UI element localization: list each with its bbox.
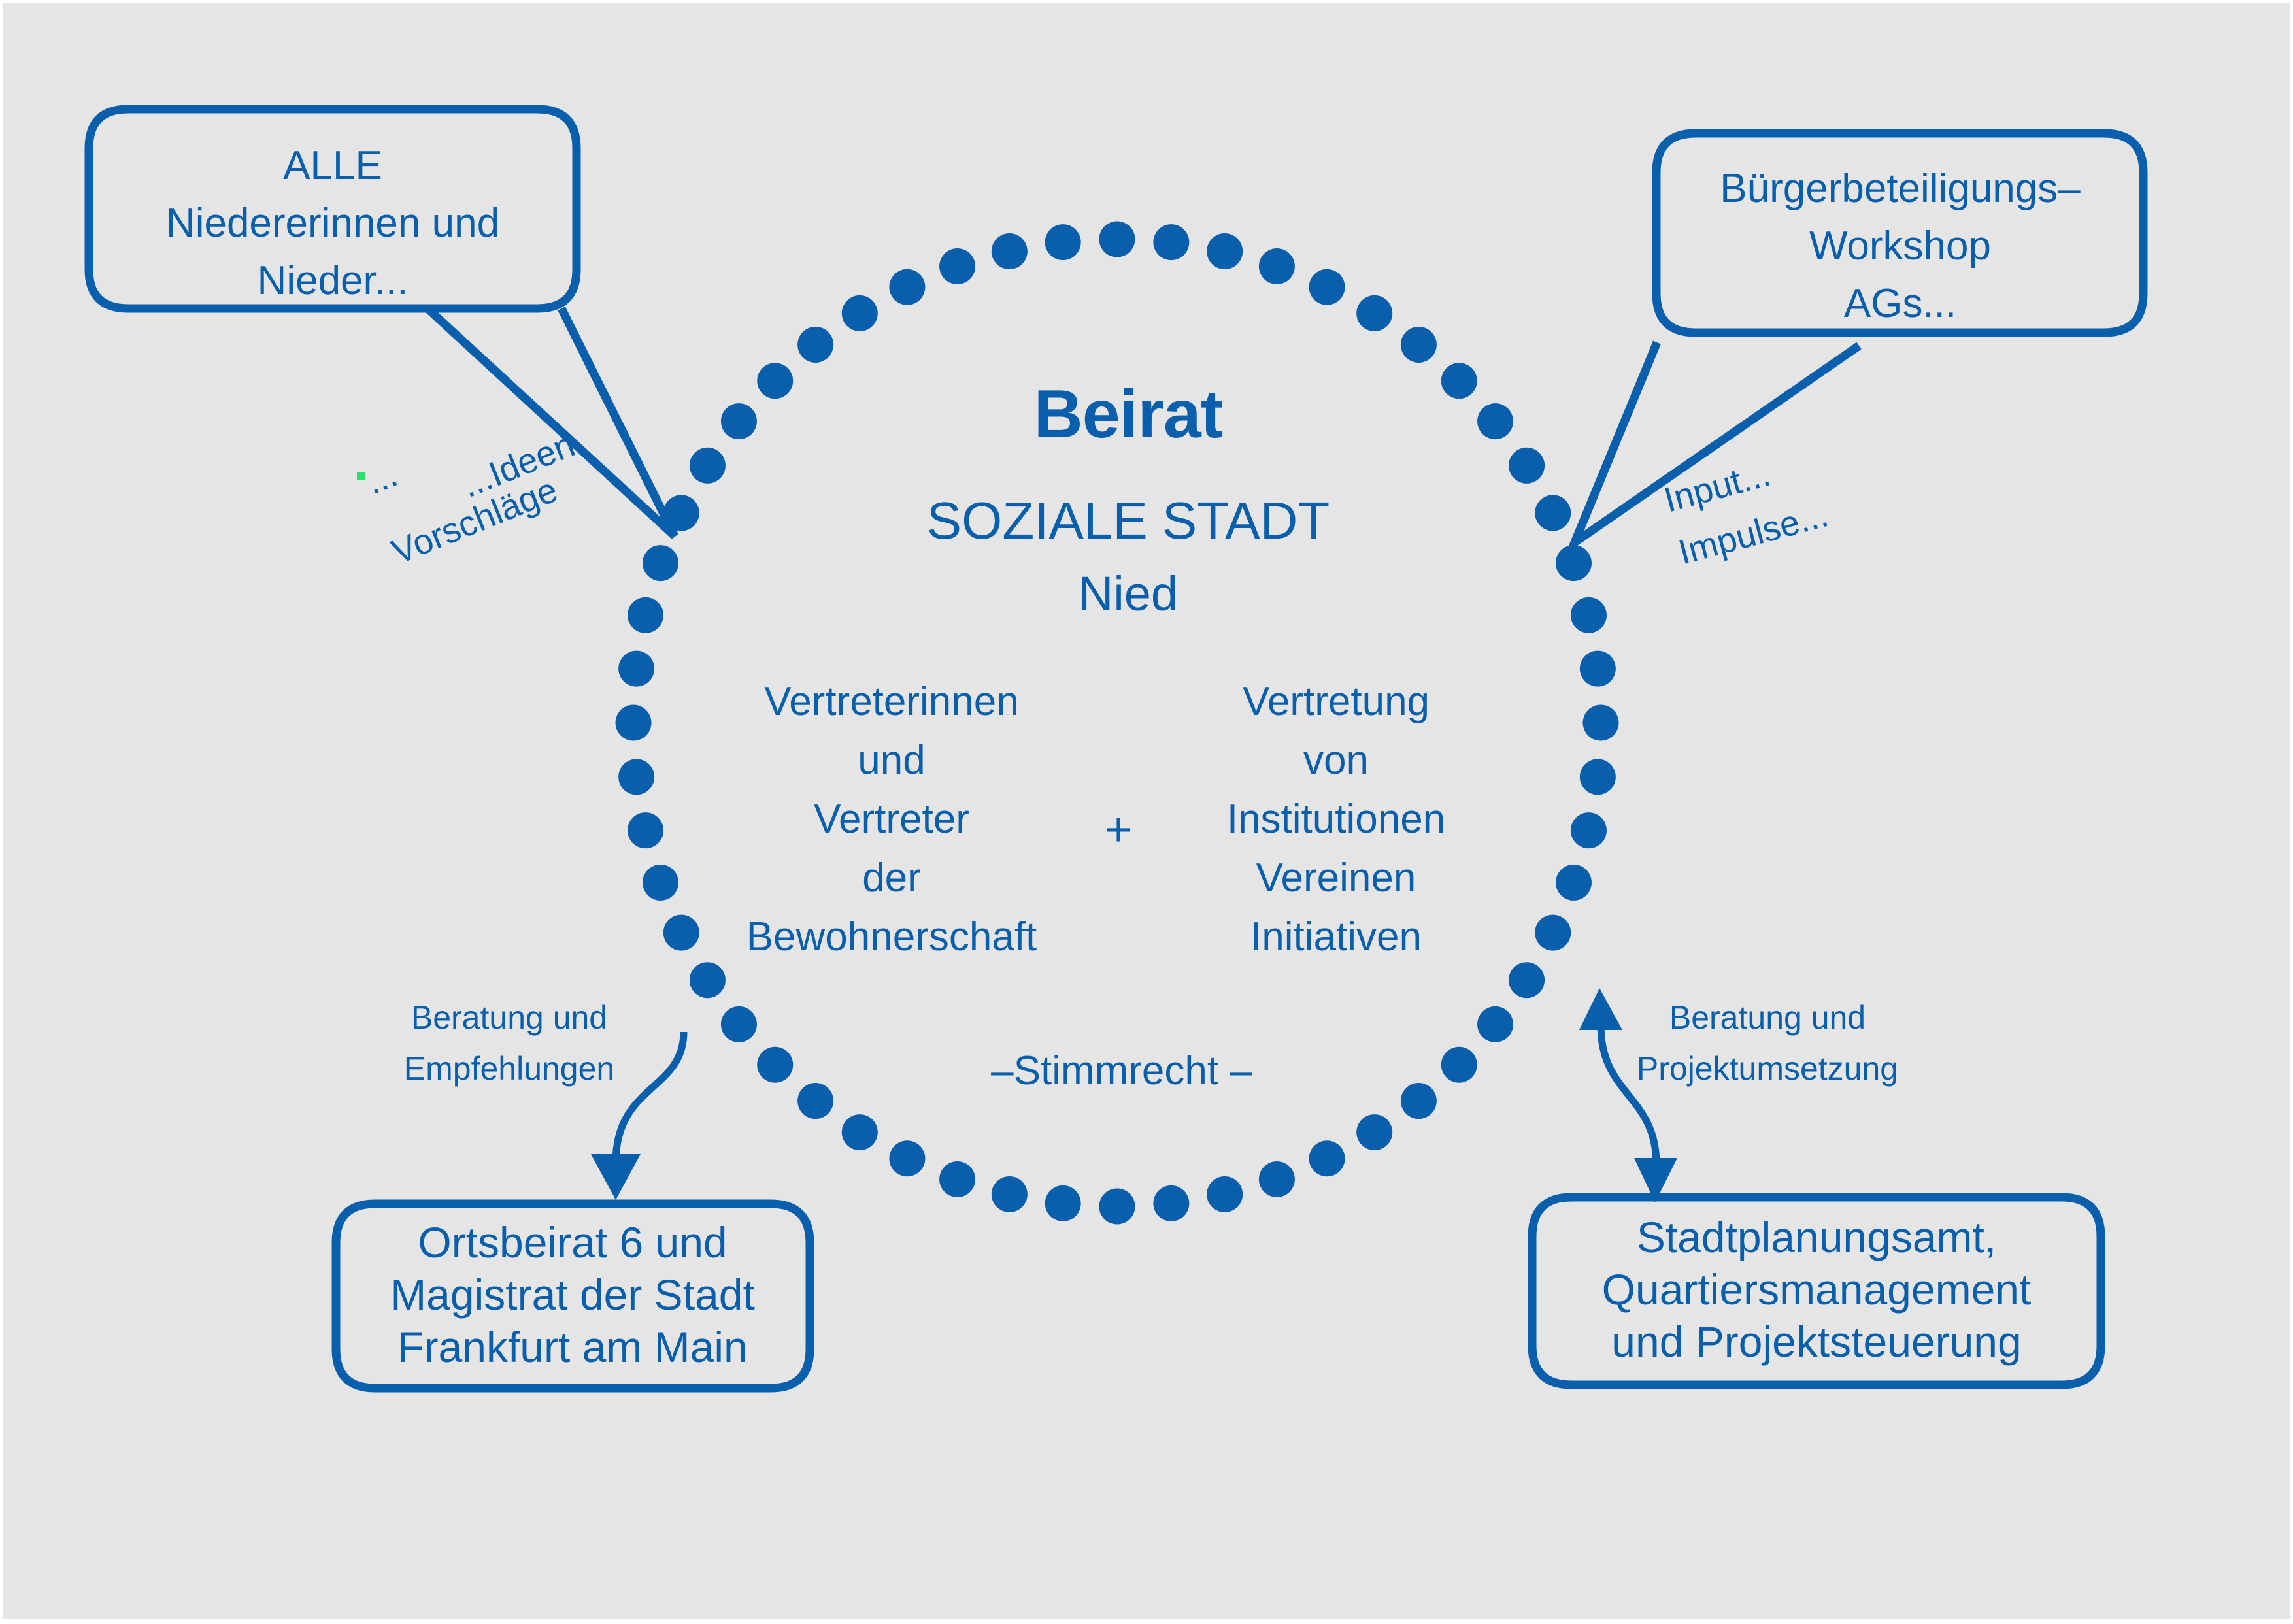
center-content: Beirat SOZIALE STADT Nied Vertreterinnen…	[746, 376, 1445, 1093]
ring-dot	[1556, 545, 1592, 581]
ring-dot	[643, 865, 678, 901]
ring-dot	[721, 403, 757, 439]
ring-dot	[628, 812, 663, 848]
ring-dot	[1401, 327, 1437, 363]
ring-dot	[690, 448, 726, 484]
bubble-top-left-line-1: ALLE	[283, 143, 382, 188]
ring-dot	[1580, 651, 1616, 687]
ring-dot	[1099, 1189, 1135, 1225]
center-left-column-line-2: und	[858, 738, 925, 783]
ring-dot	[1045, 1185, 1081, 1221]
bubble-top-left-line-3: Nieder...	[258, 258, 409, 303]
ring-dot	[1259, 1161, 1295, 1197]
ring-dot	[1153, 1185, 1189, 1221]
ring-dot	[1477, 1006, 1513, 1042]
ring-dot	[628, 597, 663, 633]
diagram-canvas: ALLE Niedererinnen und Nieder... Bürgerb…	[0, 0, 2293, 1621]
center-footer-stimmrecht: –Stimmrecht –	[991, 1048, 1252, 1093]
ring-dot	[1099, 222, 1135, 257]
ring-dot	[1309, 269, 1345, 305]
ring-dot	[1535, 915, 1571, 951]
arrow-right-out-curve	[1601, 1025, 1656, 1165]
ring-dot	[842, 1114, 878, 1150]
center-right-column-line-4: Vereinen	[1256, 855, 1416, 901]
ring-dot	[1259, 248, 1295, 284]
center-subtitle-line-1: SOZIALE STADT	[927, 491, 1330, 550]
ring-dot	[992, 1176, 1028, 1212]
entity-box-bottom-left-line-2: Magistrat der Stadt	[390, 1270, 755, 1319]
ring-dot	[1571, 597, 1607, 633]
ring-dot	[721, 1006, 757, 1042]
ring-dot	[1441, 363, 1477, 399]
ring-dot	[1401, 1083, 1437, 1119]
ring-dot	[1356, 295, 1392, 331]
center-plus-operator: +	[1105, 804, 1132, 856]
flow-label-right-out-line-1: Beratung und	[1669, 999, 1866, 1036]
ring-dot	[842, 295, 878, 331]
entity-box-bottom-left-line-3: Frankfurt am Main	[397, 1323, 747, 1371]
center-subtitle-line-2: Nied	[1079, 567, 1178, 621]
arrow-right-out-head-up	[1579, 988, 1622, 1030]
entity-box-bottom-right-line-3: und Projektsteuerung	[1611, 1317, 2021, 1366]
ring-dot	[1580, 759, 1616, 795]
ring-dot	[797, 1083, 833, 1119]
ring-dot	[1509, 962, 1545, 998]
center-title: Beirat	[1034, 376, 1223, 452]
ring-dot	[690, 962, 726, 998]
ring-dot	[939, 248, 975, 284]
ring-dot	[1309, 1140, 1345, 1176]
bubble-top-right-line-3: AGs...	[1844, 281, 1956, 326]
flow-label-right-in: Input... Impulse...	[1660, 454, 1833, 572]
center-right-column-line-3: Institutionen	[1227, 797, 1445, 842]
flow-label-right-out-line-2: Projektumsetzung	[1637, 1050, 1898, 1087]
ring-dot	[1441, 1047, 1477, 1083]
entity-box-bottom-right-line-1: Stadtplanungsamt,	[1637, 1213, 1996, 1261]
ring-dot	[1535, 495, 1571, 531]
center-right-column-line-5: Initiativen	[1250, 914, 1422, 959]
bubble-top-right-line-2: Workshop	[1809, 224, 1991, 269]
flow-label-left-in-prefix: ...	[361, 455, 403, 502]
callout-bubble-top-right[interactable]: Bürgerbeteiligungs– Workshop AGs...	[1575, 133, 2143, 542]
ring-dot	[618, 651, 654, 687]
ring-dot	[939, 1161, 975, 1197]
center-left-column-line-1: Vertreterinnen	[764, 679, 1018, 724]
ring-dot	[1207, 1176, 1243, 1212]
flow-label-right-in-line-1: Input...	[1660, 454, 1775, 520]
entity-box-bottom-left[interactable]: Ortsbeirat 6 und Magistrat der Stadt Fra…	[336, 1204, 810, 1388]
center-left-column-line-3: Vertreter	[814, 797, 969, 842]
ring-dot	[663, 915, 699, 951]
ring-dot	[1509, 448, 1545, 484]
beirat-structure-diagram: ALLE Niedererinnen und Nieder... Bürgerb…	[3, 3, 2293, 1624]
entity-box-bottom-right[interactable]: Stadtplanungsamt, Quartiersmanagement un…	[1532, 1197, 2101, 1385]
entity-box-bottom-right-line-2: Quartiersmanagement	[1602, 1265, 2032, 1314]
ring-dot	[889, 1140, 925, 1176]
flow-label-left-in: ... ...Ideen Vorschläge	[357, 425, 580, 572]
center-left-column-line-4: der	[862, 855, 921, 901]
flow-label-left-out-line-1: Beratung und	[411, 999, 607, 1036]
flow-label-left-out-line-2: Empfehlungen	[404, 1050, 614, 1087]
ring-dot	[797, 327, 833, 363]
bubble-top-left-line-2: Niedererinnen und	[166, 201, 499, 246]
flow-left-out: Beratung und Empfehlungen	[404, 999, 684, 1200]
ring-dot	[1207, 233, 1243, 269]
bubble-top-right-line-1: Bürgerbeteiligungs–	[1720, 166, 2081, 211]
ring-dot	[1356, 1114, 1392, 1150]
center-left-column-line-5: Bewohnerschaft	[746, 914, 1037, 959]
ring-dot	[757, 1047, 793, 1083]
ring-dot	[643, 545, 678, 581]
ring-dot	[618, 759, 654, 795]
ring-dot	[1045, 224, 1081, 260]
arrow-left-out-curve	[616, 1032, 684, 1163]
ring-dot	[1477, 403, 1513, 439]
ring-dot	[1583, 705, 1619, 741]
entity-box-bottom-left-line-1: Ortsbeirat 6 und	[418, 1218, 727, 1267]
center-right-column-line-2: von	[1303, 738, 1369, 783]
flow-right-out: Beratung und Projektumsetzung	[1579, 988, 1898, 1202]
ring-dot	[1571, 812, 1607, 848]
ring-dot	[1153, 224, 1189, 260]
ring-dot	[1556, 865, 1592, 901]
ring-dot	[616, 705, 652, 741]
ring-dot	[889, 269, 925, 305]
arrow-left-out-head	[591, 1154, 641, 1200]
center-right-column-line-1: Vertretung	[1243, 679, 1430, 724]
ring-dot	[992, 233, 1028, 269]
ring-dot	[757, 363, 793, 399]
